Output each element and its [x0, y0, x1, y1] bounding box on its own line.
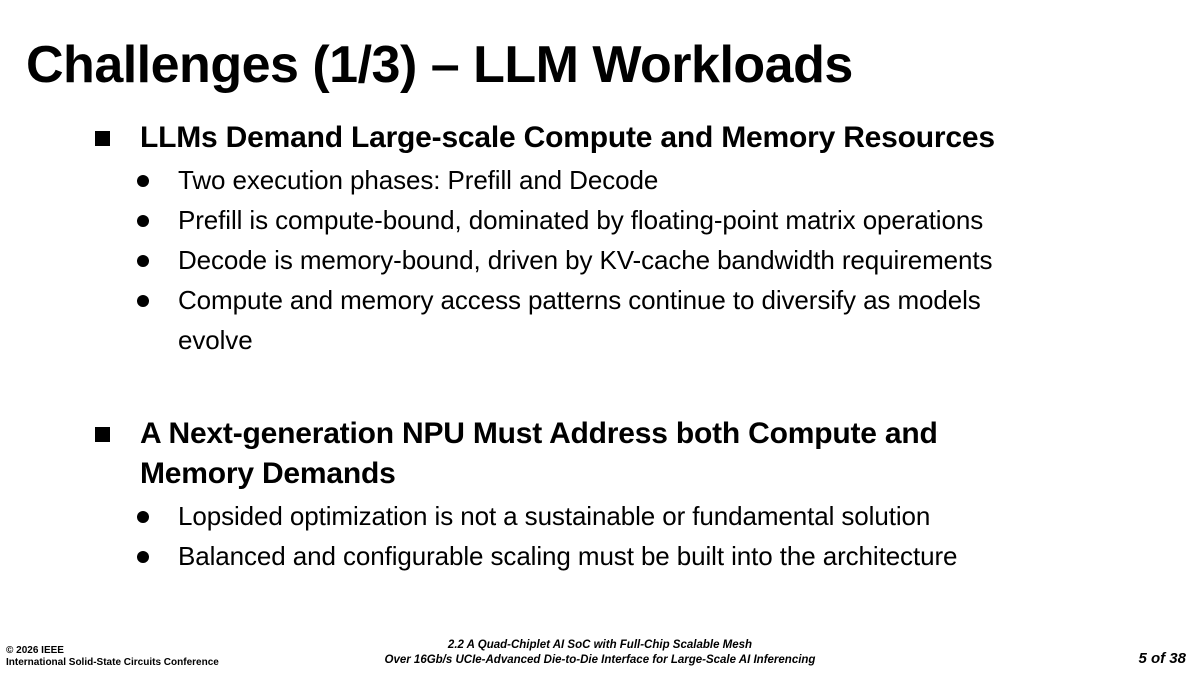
level2-text-line1: Two execution phases: Prefill and Decode	[178, 165, 658, 195]
footer-paper-title: 2.2 A Quad-Chiplet AI SoC with Full-Chip…	[0, 638, 1200, 668]
level1-bullet-item: A Next-generation NPU Must Address both …	[0, 414, 1200, 494]
square-bullet-icon	[95, 131, 110, 146]
dot-bullet-icon	[137, 215, 149, 227]
level2-bullet-item: Two execution phases: Prefill and Decode	[0, 160, 1200, 200]
dot-bullet-icon	[137, 511, 149, 523]
slide-title: Challenges (1/3) – LLM Workloads	[26, 36, 1166, 96]
content-section-2: A Next-generation NPU Must Address both …	[0, 414, 1200, 576]
level2-text-line1: Prefill is compute-bound, dominated by f…	[178, 205, 983, 235]
level2-text-line2: evolve	[178, 320, 1200, 360]
level1-heading-line1: A Next-generation NPU Must Address both …	[140, 417, 938, 450]
dot-bullet-icon	[137, 255, 149, 267]
paper-title-line-2: Over 16Gb/s UCIe-Advanced Die-to-Die Int…	[0, 653, 1200, 668]
dot-bullet-icon	[137, 175, 149, 187]
level1-heading-line2: Memory Demands	[140, 454, 1200, 494]
content-section-1: LLMs Demand Large-scale Compute and Memo…	[0, 118, 1200, 360]
level2-text-line1: Decode is memory-bound, driven by KV-cac…	[178, 245, 992, 275]
level2-text-line1: Compute and memory access patterns conti…	[178, 285, 981, 315]
level2-bullet-item: Balanced and configurable scaling must b…	[0, 536, 1200, 576]
footer-page-number: 5 of 38	[1138, 650, 1186, 667]
presentation-slide: Challenges (1/3) – LLM Workloads LLMs De…	[0, 0, 1200, 675]
level1-heading-line1: LLMs Demand Large-scale Compute and Memo…	[140, 121, 995, 154]
level2-bullet-list: Lopsided optimization is not a sustainab…	[0, 496, 1200, 576]
dot-bullet-icon	[137, 551, 149, 563]
level2-bullet-item: Compute and memory access patterns conti…	[0, 280, 1200, 360]
level1-bullet-item: LLMs Demand Large-scale Compute and Memo…	[0, 118, 1200, 158]
slide-body: LLMs Demand Large-scale Compute and Memo…	[0, 118, 1200, 576]
square-bullet-icon	[95, 427, 110, 442]
slide-footer: © 2026 IEEE International Solid-State Ci…	[0, 627, 1200, 675]
paper-title-line-1: 2.2 A Quad-Chiplet AI SoC with Full-Chip…	[0, 638, 1200, 653]
level2-bullet-list: Two execution phases: Prefill and Decode…	[0, 160, 1200, 360]
level2-bullet-item: Lopsided optimization is not a sustainab…	[0, 496, 1200, 536]
level2-text-line1: Lopsided optimization is not a sustainab…	[178, 501, 930, 531]
level2-bullet-item: Decode is memory-bound, driven by KV-cac…	[0, 240, 1200, 280]
dot-bullet-icon	[137, 295, 149, 307]
level2-text-line1: Balanced and configurable scaling must b…	[178, 541, 957, 571]
level2-bullet-item: Prefill is compute-bound, dominated by f…	[0, 200, 1200, 240]
